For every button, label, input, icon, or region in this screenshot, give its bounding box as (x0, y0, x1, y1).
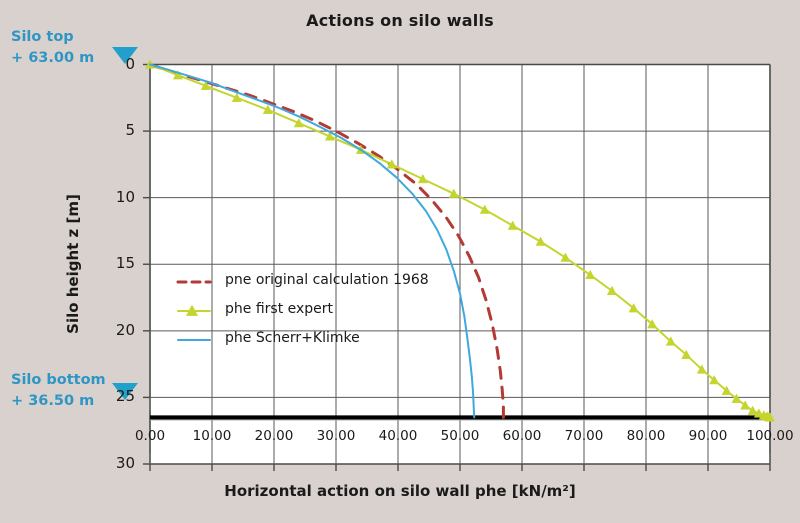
x-tick-label: 40.00 (363, 428, 433, 444)
x-tick-label: 80.00 (611, 428, 681, 444)
x-tick-label: 60.00 (487, 428, 557, 444)
x-axis-title: Horizontal action on silo wall phe [kN/m… (0, 482, 800, 500)
y-tick-label: 20 (95, 321, 135, 339)
x-tick-label: 90.00 (673, 428, 743, 444)
y-tick-label: 0 (95, 55, 135, 73)
x-tick-label: 10.00 (177, 428, 247, 444)
x-tick-label: 30.00 (301, 428, 371, 444)
legend-label: phe Scherr+Klimke (225, 330, 360, 346)
y-tick-label: 25 (95, 387, 135, 405)
y-tick-label: 30 (95, 454, 135, 472)
y-tick-label: 15 (95, 254, 135, 272)
y-tick-label: 5 (95, 121, 135, 139)
y-tick-label: 10 (95, 188, 135, 206)
chart-figure: Actions on silo walls Silo top + 63.00 m… (0, 0, 800, 523)
x-tick-label: 70.00 (549, 428, 619, 444)
x-tick-label: 50.00 (425, 428, 495, 444)
x-tick-label: 100.00 (735, 428, 800, 444)
x-tick-label: 0.00 (115, 428, 185, 444)
legend-label: pne original calculation 1968 (225, 272, 429, 288)
y-axis-title: Silo height z [m] (64, 174, 82, 354)
legend-label: phe first expert (225, 301, 333, 317)
x-tick-label: 20.00 (239, 428, 309, 444)
